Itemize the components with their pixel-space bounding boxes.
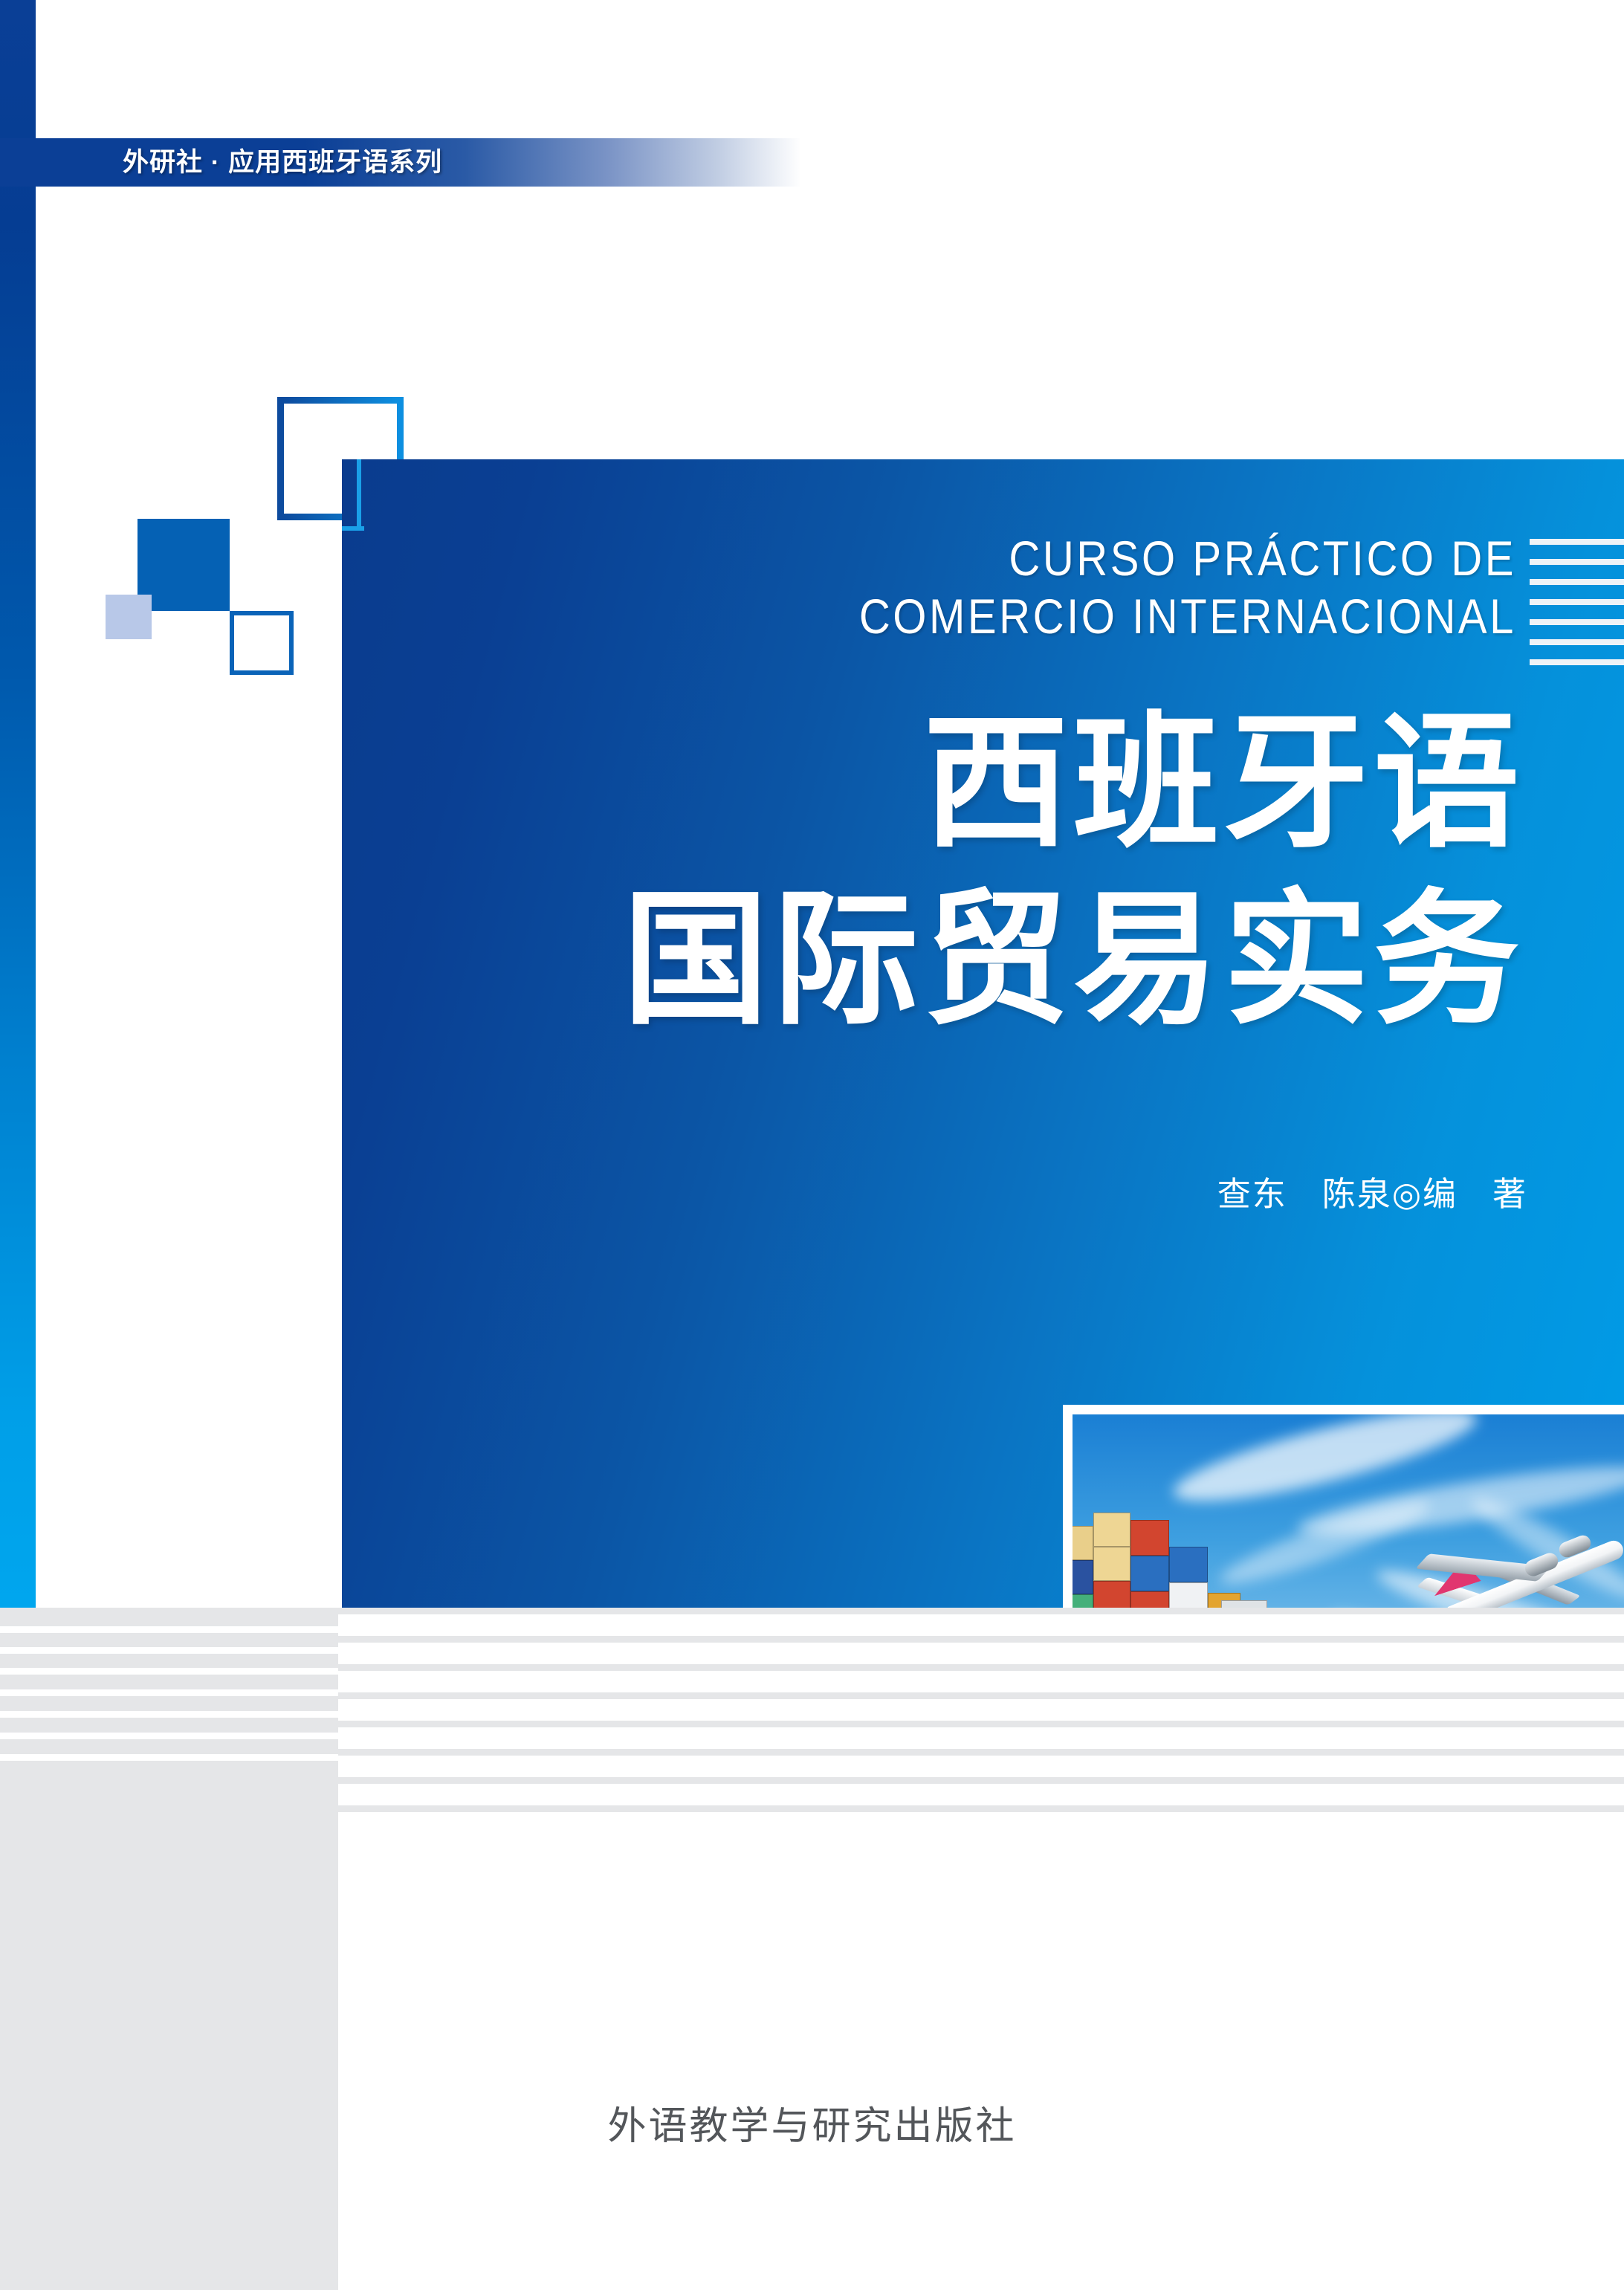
hatch-line xyxy=(1530,639,1624,645)
shipping-container xyxy=(1073,1526,1093,1560)
rule-line xyxy=(338,1692,1624,1699)
hatch-line xyxy=(1530,619,1624,625)
hatch-line xyxy=(1530,559,1624,565)
shipping-container xyxy=(1130,1520,1169,1556)
hatch-line xyxy=(1530,579,1624,585)
rule-line xyxy=(0,1626,338,1633)
shipping-container xyxy=(1073,1560,1093,1594)
bottom-left-lined-block xyxy=(0,1608,338,2290)
author-byline: 查东 陈泉◎编 著 xyxy=(669,1167,1527,1215)
rule-line xyxy=(338,1608,1624,1614)
book-title: 西班牙语 国际贸易实务 xyxy=(357,695,1524,1049)
rule-line xyxy=(338,1777,1624,1784)
rule-line xyxy=(338,1636,1624,1643)
hatch-line xyxy=(1530,599,1624,605)
shipping-container xyxy=(1130,1556,1169,1591)
rule-line xyxy=(338,1749,1624,1756)
bottom-right-lined-block xyxy=(338,1608,1624,2290)
hatch-line xyxy=(1530,539,1624,545)
panel-accent-line-horizontal xyxy=(342,526,364,531)
spanish-subtitle-line-2: COMERCIO INTERNACIONAL xyxy=(549,587,1516,645)
hatch-lines-group xyxy=(1530,539,1624,669)
spine-gradient-strip xyxy=(0,0,36,1608)
rule-line xyxy=(0,1711,338,1718)
shipping-container xyxy=(1093,1513,1130,1547)
book-cover: 外研社 · 应用西班牙语系列 CURSO PRÁCTICO DE COMERCI… xyxy=(0,0,1624,2290)
rule-line xyxy=(338,1664,1624,1671)
decorative-square-pale xyxy=(106,595,152,639)
rule-line xyxy=(0,1689,338,1696)
hatch-line xyxy=(1530,659,1624,665)
rule-line xyxy=(0,1733,338,1739)
book-title-line-2: 国际贸易实务 xyxy=(357,872,1524,1049)
panel-accent-line-vertical xyxy=(357,459,361,530)
rule-line xyxy=(0,1668,338,1675)
decorative-square-outline-small xyxy=(230,611,294,675)
publisher-name: 外语教学与研究出版社 xyxy=(338,2095,1286,2150)
spanish-subtitle: CURSO PRÁCTICO DE COMERCIO INTERNACIONAL xyxy=(549,529,1516,645)
series-band-label: 外研社 · 应用西班牙语系列 xyxy=(123,138,442,187)
rule-line xyxy=(0,1647,338,1654)
rule-line xyxy=(338,1805,1624,1812)
spanish-subtitle-line-1: CURSO PRÁCTICO DE xyxy=(549,529,1516,587)
rule-line xyxy=(0,1754,338,1761)
book-title-line-1: 西班牙语 xyxy=(357,695,1524,872)
shipping-container xyxy=(1169,1547,1208,1582)
shipping-container xyxy=(1093,1547,1130,1581)
rule-line xyxy=(338,1721,1624,1727)
